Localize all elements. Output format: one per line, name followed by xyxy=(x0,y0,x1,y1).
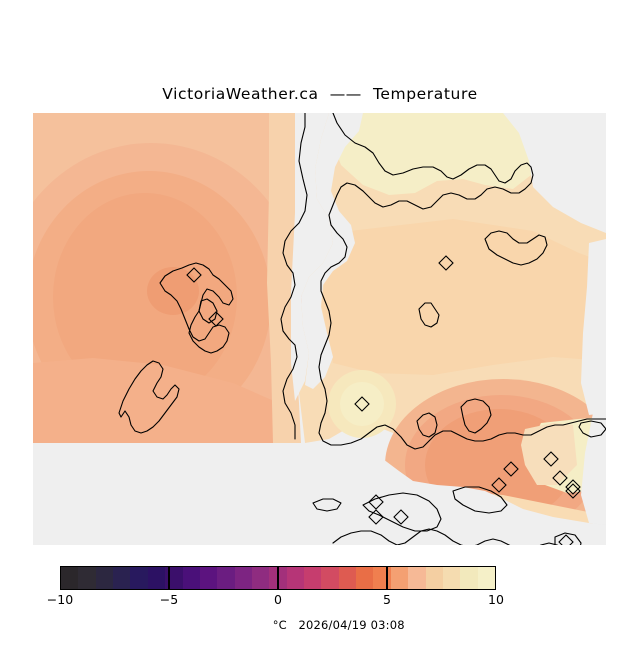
colorbar-segment-1 xyxy=(78,567,95,589)
colorbar-segment-7 xyxy=(183,567,200,589)
field-central-pale-core xyxy=(340,382,384,426)
colorbar-segment-15 xyxy=(321,567,338,589)
colorbar-segment-9 xyxy=(217,567,234,589)
field-nw-hotspot xyxy=(147,267,199,315)
colorbar-segment-16 xyxy=(339,567,356,589)
colorbar-segment-20 xyxy=(408,567,425,589)
colorbar-segment-10 xyxy=(235,567,252,589)
colorbar-segment-4 xyxy=(130,567,147,589)
colorbar-segment-14 xyxy=(304,567,321,589)
colorbar-tick-5 xyxy=(386,566,388,590)
map-panel[interactable] xyxy=(33,113,606,545)
temperature-contour-map[interactable] xyxy=(33,113,606,545)
colorbar-segment-23 xyxy=(460,567,477,589)
colorbar-segment-19 xyxy=(391,567,408,589)
colorbar-tick--5 xyxy=(168,566,170,590)
colorbar-segment-18 xyxy=(373,567,390,589)
colorbar-segment-21 xyxy=(426,567,443,589)
colorbar-segment-11 xyxy=(252,567,269,589)
colorbar-caption-text: °C 2026/04/19 03:08 xyxy=(251,618,405,632)
colorbar-segment-0 xyxy=(61,567,78,589)
colorbar-segment-3 xyxy=(113,567,130,589)
colorbar-segment-8 xyxy=(200,567,217,589)
mask-south-sea xyxy=(33,443,333,545)
colorbar-segment-22 xyxy=(443,567,460,589)
colorbar-segment-5 xyxy=(148,567,165,589)
colorbar-segment-2 xyxy=(96,567,113,589)
page-title: VictoriaWeather.ca —— Temperature xyxy=(0,85,640,103)
colorbar-segment-17 xyxy=(356,567,373,589)
colorbar-segment-24 xyxy=(478,567,495,589)
colorbar-tick-0 xyxy=(277,566,279,590)
colorbar-segment-13 xyxy=(287,567,304,589)
colorbar[interactable]: −10−50510 xyxy=(60,566,496,590)
weather-map-page: VictoriaWeather.ca —— Temperature xyxy=(0,0,640,640)
